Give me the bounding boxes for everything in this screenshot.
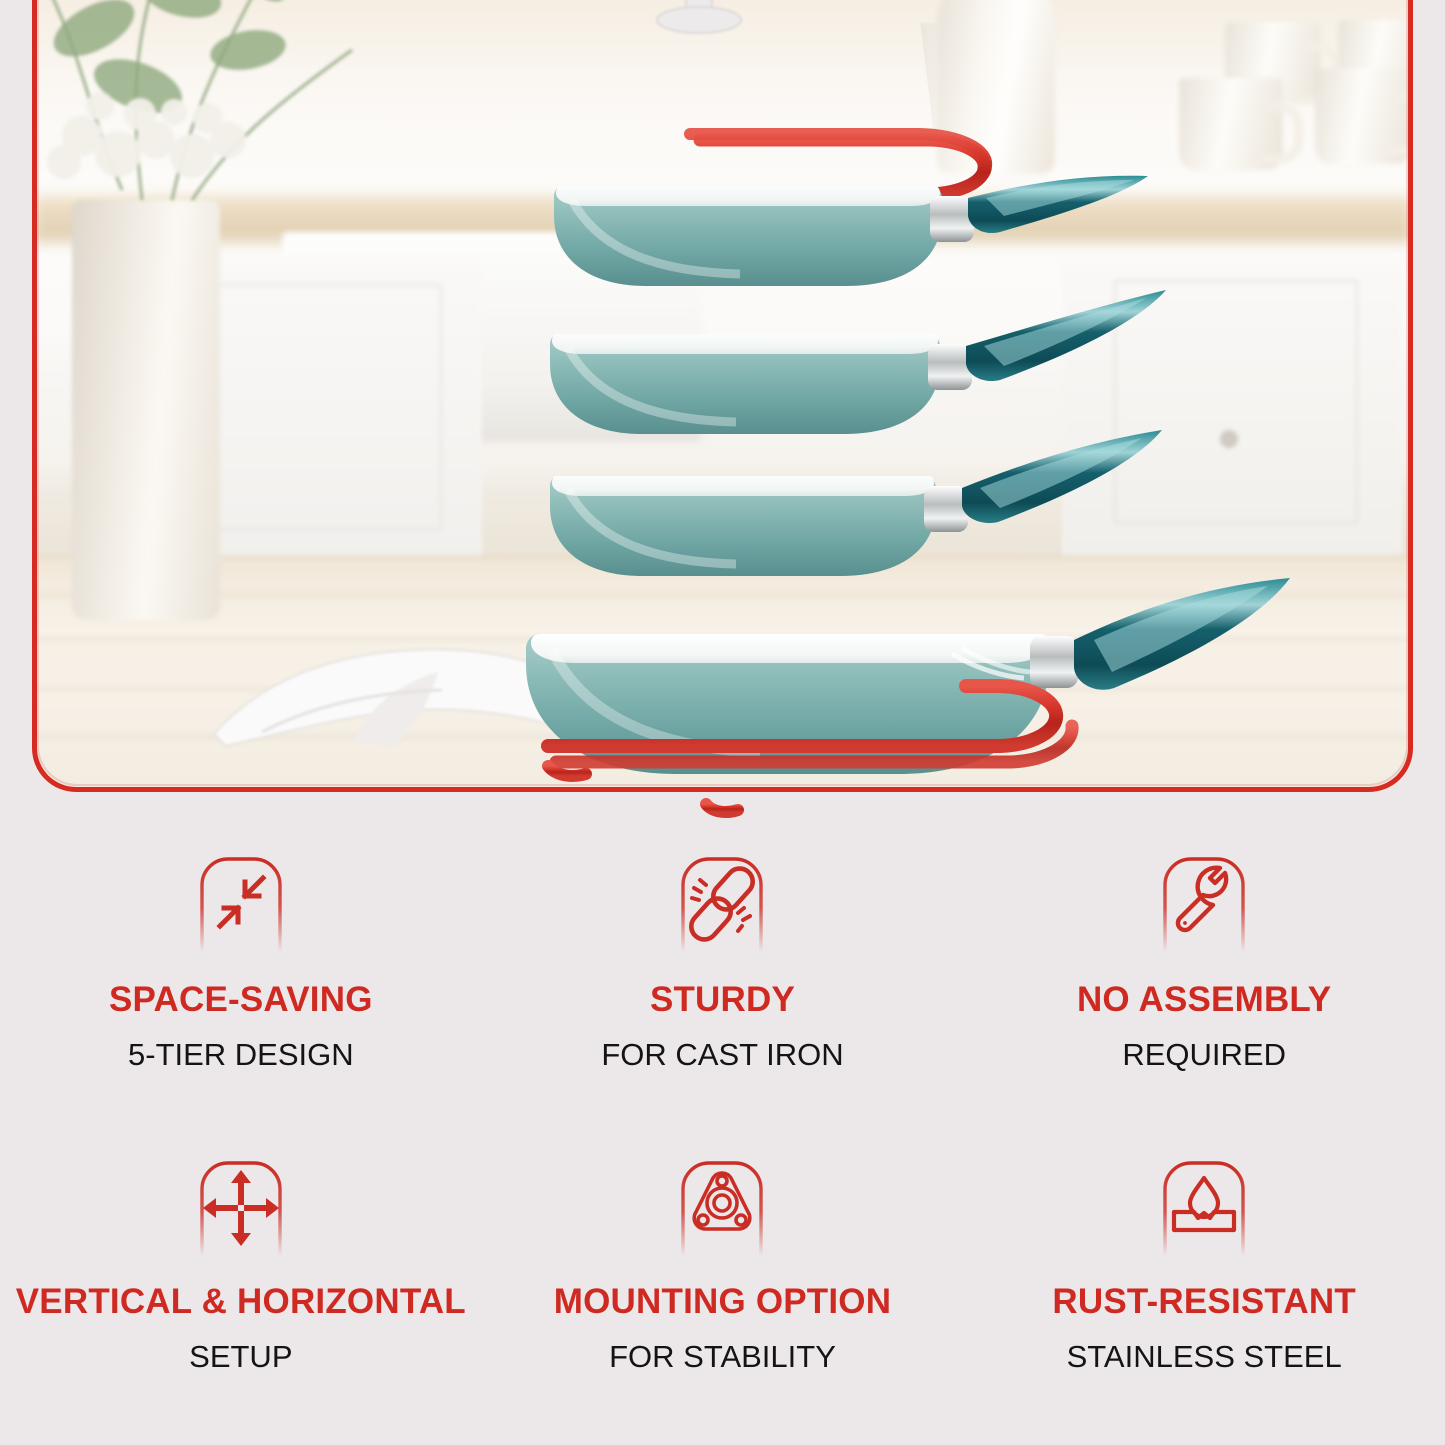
move-arrows-icon — [189, 1156, 293, 1260]
feature-subtitle: REQUIRED — [1122, 1039, 1286, 1070]
feature-title: NO ASSEMBLY — [1077, 982, 1331, 1017]
water-drop-on-steel-icon — [1152, 1156, 1256, 1260]
hero-product-photo — [0, 0, 1445, 830]
feature-subtitle: FOR CAST IRON — [601, 1039, 843, 1070]
wrench-icon — [1152, 852, 1256, 956]
feature-mounting-option: MOUNTING OPTION FOR STABILITY — [482, 1142, 964, 1445]
feature-subtitle: 5-TIER DESIGN — [128, 1039, 354, 1070]
compress-arrows-icon — [189, 852, 293, 956]
feature-rust-resistant: RUST-RESISTANT STAINLESS STEEL — [963, 1142, 1445, 1445]
feature-title: RUST-RESISTANT — [1052, 1284, 1356, 1319]
feature-subtitle: SETUP — [189, 1341, 292, 1372]
feature-title: SPACE-SAVING — [109, 982, 373, 1017]
feature-space-saving: SPACE-SAVING 5-TIER DESIGN — [0, 838, 482, 1142]
feature-sturdy: STURDY FOR CAST IRON — [482, 838, 964, 1142]
feature-no-assembly: NO ASSEMBLY REQUIRED — [963, 838, 1445, 1142]
feature-grid: SPACE-SAVING 5-TIER DESIGN STURDY FOR CA… — [0, 838, 1445, 1445]
feature-title: STURDY — [650, 982, 795, 1017]
feature-subtitle: STAINLESS STEEL — [1067, 1341, 1342, 1372]
frame-inner-glow — [37, 0, 1408, 786]
feature-title: VERTICAL & HORIZONTAL — [16, 1284, 466, 1319]
chain-link-icon — [670, 852, 774, 956]
feature-vertical-horizontal: VERTICAL & HORIZONTAL SETUP — [0, 1142, 482, 1445]
mounting-plate-icon — [670, 1156, 774, 1260]
feature-title: MOUNTING OPTION — [554, 1284, 891, 1319]
feature-subtitle: FOR STABILITY — [609, 1341, 836, 1372]
